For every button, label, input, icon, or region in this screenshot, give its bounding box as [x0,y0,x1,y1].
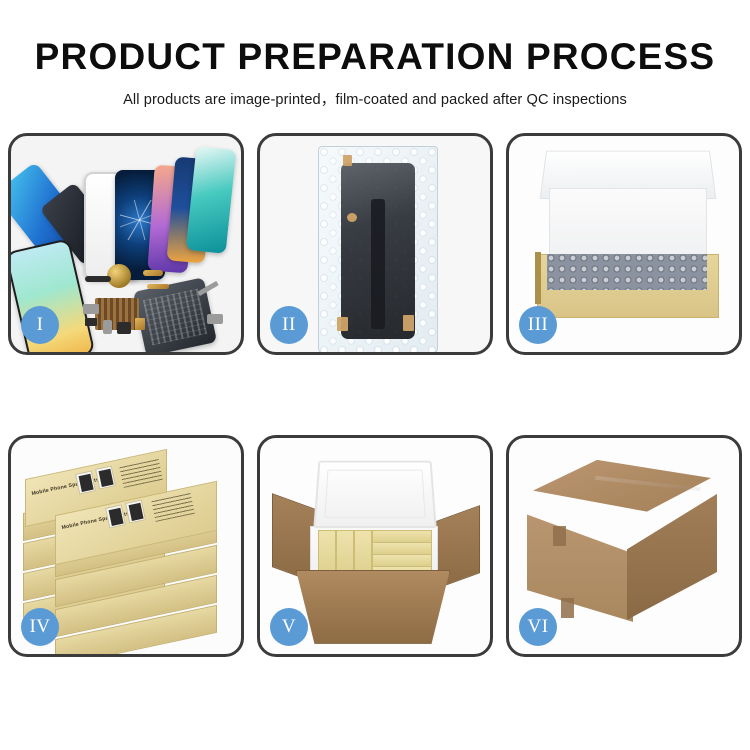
process-step-2: II [257,133,493,355]
tape-piece-icon [347,213,357,222]
flex-cable-icon [143,270,163,276]
step-badge-5: V [270,608,308,646]
page-title: PRODUCT PREPARATION PROCESS [0,38,750,77]
styrofoam-lid [313,461,436,528]
header: PRODUCT PREPARATION PROCESS All products… [0,0,750,109]
foam-sheet [549,188,707,258]
process-step-3: III [506,133,742,355]
bubble-wrap-bag [318,146,438,352]
box-side-flap [535,252,541,304]
gold-component-icon [107,264,131,288]
screw-set-icon [207,314,223,324]
flex-cable-strip [371,199,385,329]
process-step-6: VI [506,435,742,657]
step-badge-6: VI [519,608,557,646]
vibrator-part-icon [117,322,131,334]
tape-seal-icon [553,526,566,546]
tape-piece-icon [337,317,348,331]
tape-seal-icon [561,598,574,618]
step-badge-3: III [519,306,557,344]
step-badge-1: I [21,306,59,344]
product-preparation-infographic: PRODUCT PREPARATION PROCESS All products… [0,0,750,750]
page-subtitle: All products are image-printed，film-coat… [0,88,750,109]
sim-tray-icon [103,320,112,334]
tape-piece-icon [343,155,352,166]
tape-piece-icon [403,315,414,331]
flex-cable-icon [147,284,169,289]
process-step-1: I [8,133,244,355]
process-step-5: V [257,435,493,657]
step-badge-4: IV [21,608,59,646]
bracket-part-icon [83,304,99,314]
carton-left-face [527,500,633,622]
speaker-part-icon [85,276,111,282]
camera-part-icon [85,318,97,326]
process-steps-grid: I II [8,133,742,657]
bubble-wrapped-contents [547,254,707,290]
process-step-4: Mobile Phone Spare Parts Mobile Phone Sp… [8,435,244,657]
carton-body [296,570,450,644]
connector-part-icon [135,318,145,330]
carton-right-face [627,494,717,620]
step-badge-2: II [270,306,308,344]
